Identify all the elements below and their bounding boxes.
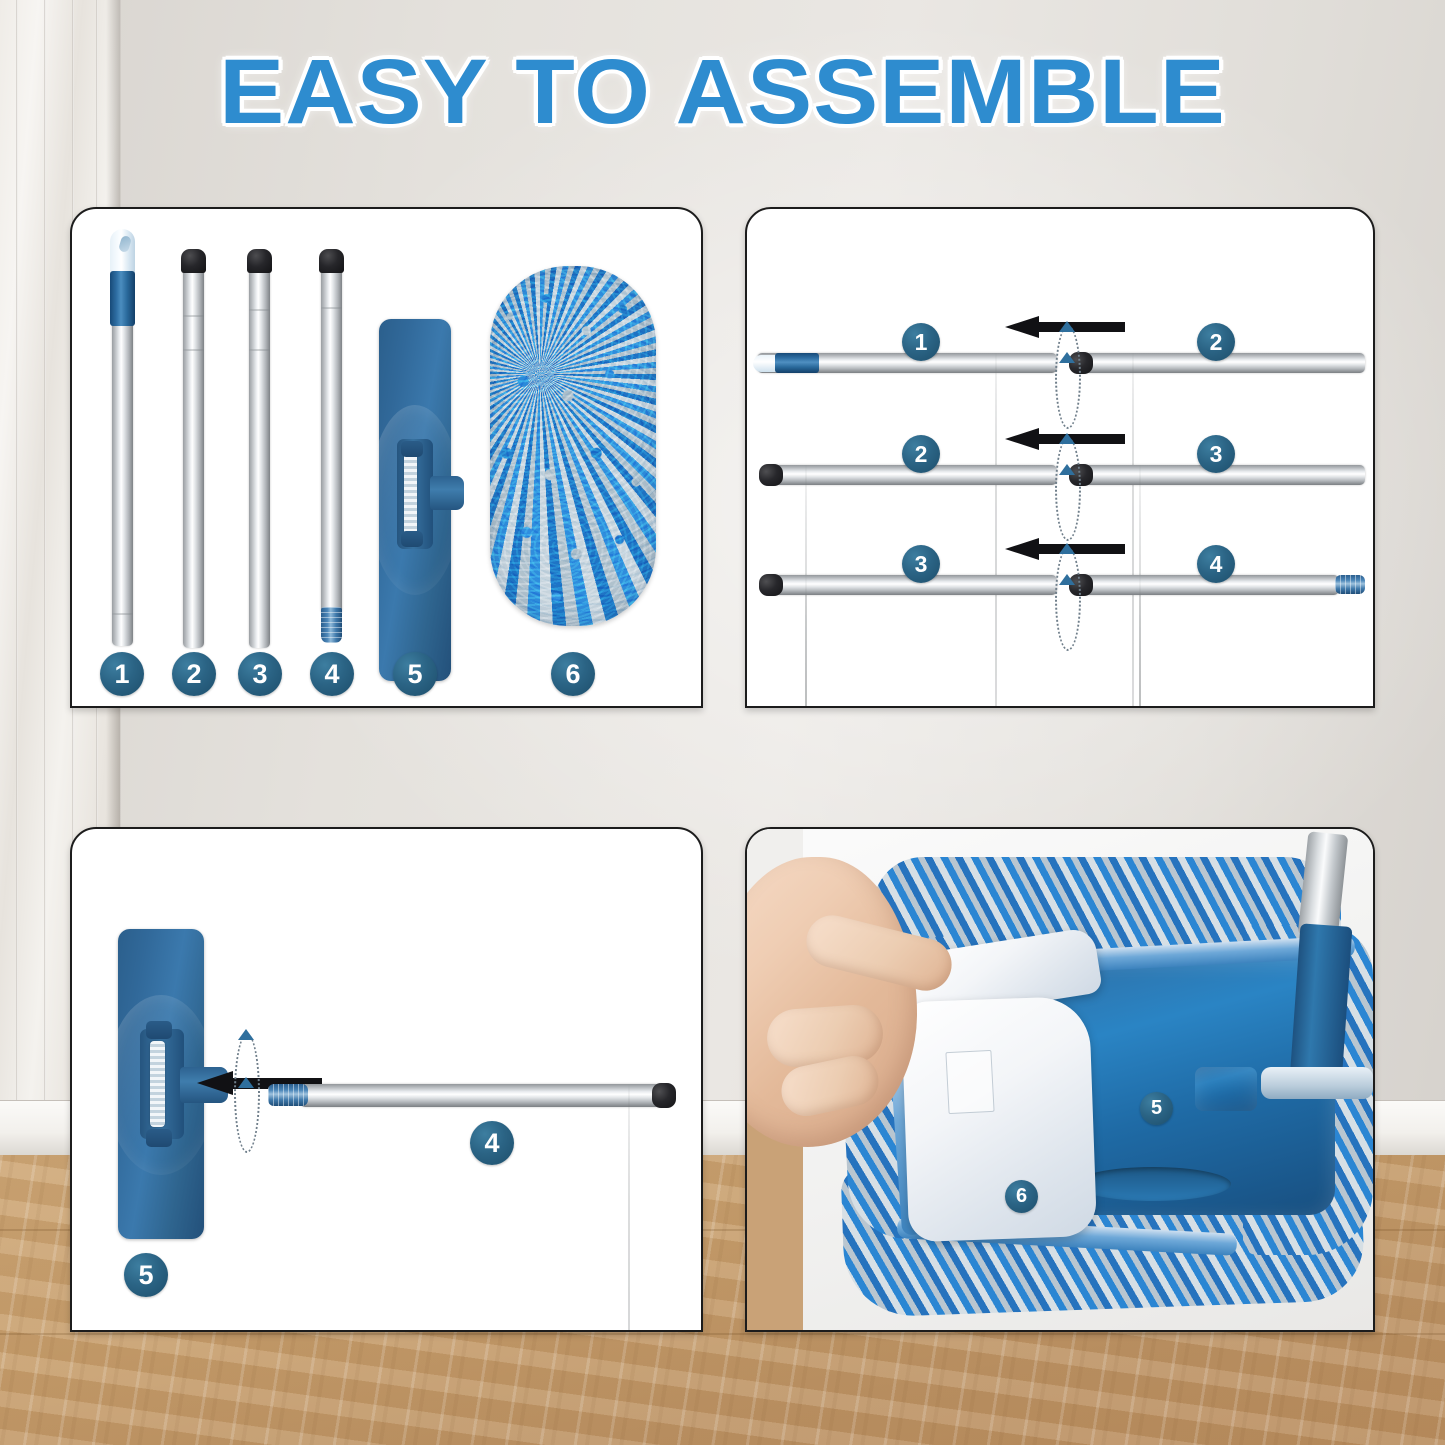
badge-plate-5: 5 <box>1140 1092 1173 1125</box>
product-photo: 5 6 <box>747 829 1373 1330</box>
handle-grip <box>775 353 819 373</box>
badge-row1-left: 1 <box>902 323 940 361</box>
rotation-arrow-mid <box>1059 464 1075 475</box>
plate-ratchet-clip <box>404 451 417 537</box>
connector-clip <box>1261 1067 1373 1099</box>
badge-part-1: 1 <box>100 652 144 696</box>
velcro-flap-panel <box>901 996 1097 1242</box>
curtain-fold <box>44 0 46 1115</box>
badge-row3-left: 3 <box>902 545 940 583</box>
badge-part-2: 2 <box>172 652 216 696</box>
rotation-arrow-top <box>1059 433 1075 444</box>
badge-row2-right: 3 <box>1197 435 1235 473</box>
pole-connector <box>1290 923 1353 1084</box>
velcro-care-label <box>945 1050 994 1114</box>
plate-socket <box>430 476 464 510</box>
rotation-arrow-top <box>1059 543 1075 554</box>
badge-part-5: 5 <box>393 652 437 696</box>
plate-slot <box>1075 1167 1231 1201</box>
badge-row1-right: 2 <box>1197 323 1235 361</box>
handle-grip <box>110 271 135 326</box>
threaded-tip <box>321 607 342 643</box>
badge-head-5: 5 <box>124 1253 168 1297</box>
plate-rib <box>1195 1067 1257 1111</box>
plate-ratchet-clip <box>150 1041 165 1127</box>
panel-attach-pole-to-head: 5 4 <box>70 827 703 1332</box>
rotation-ellipse-icon <box>234 1033 260 1153</box>
badge-part-3: 3 <box>238 652 282 696</box>
rotation-arrow-mid <box>238 1077 254 1088</box>
rotation-arrow-top <box>238 1029 254 1040</box>
panel-attach-pad: 5 6 <box>745 827 1375 1332</box>
badge-row2-left: 2 <box>902 435 940 473</box>
rotation-ellipse-icon <box>1055 547 1081 651</box>
rotation-ellipse-icon <box>1055 437 1081 541</box>
panel-parts-overview: 1 2 3 4 5 6 <box>70 207 703 708</box>
badge-pad-6: 6 <box>1005 1180 1038 1213</box>
floor-seam <box>0 1333 1445 1335</box>
badge-pole-4: 4 <box>470 1121 514 1165</box>
threaded-tip <box>268 1084 308 1106</box>
page-title: EASY TO ASSEMBLE <box>0 46 1445 138</box>
badge-part-6: 6 <box>551 652 595 696</box>
curtain-fold <box>16 0 18 1115</box>
panel-pole-assembly: 1 2 2 3 3 4 <box>745 207 1375 708</box>
rotation-arrow-mid <box>1059 352 1075 363</box>
rotation-arrow-mid <box>1059 574 1075 585</box>
badge-row3-right: 4 <box>1197 545 1235 583</box>
badge-part-4: 4 <box>310 652 354 696</box>
rotation-ellipse-icon <box>1055 325 1081 429</box>
threaded-tip <box>1335 575 1365 594</box>
rotation-arrow-top <box>1059 321 1075 332</box>
